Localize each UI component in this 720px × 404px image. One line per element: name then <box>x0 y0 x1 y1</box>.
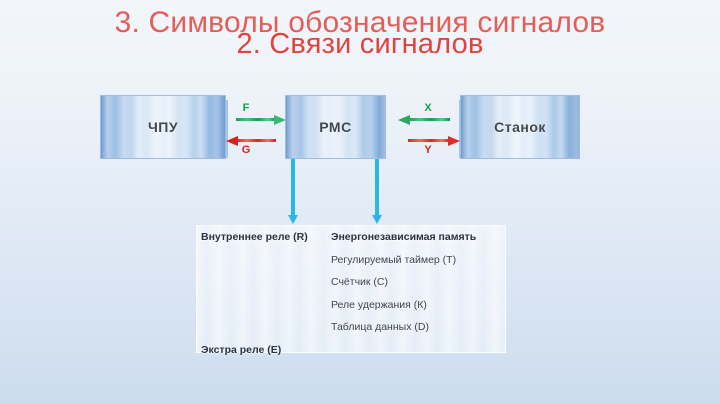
list-item <box>331 339 476 362</box>
signal-arrow-g-shaft <box>236 139 276 142</box>
connector-tick-left <box>226 100 228 158</box>
slide-title-current: 2. Связи сигналов <box>0 28 720 61</box>
signal-label-x: X <box>418 102 438 114</box>
arrow-head-right-icon <box>448 136 460 146</box>
arrow-head-left-icon <box>398 115 410 125</box>
diagram-box-pmc-label: РМС <box>319 119 351 135</box>
signal-arrow-x <box>398 115 460 123</box>
diagram-box-cnc: ЧПУ <box>100 95 226 159</box>
memory-list-right: Энергонезависимая память Регулируемый та… <box>331 226 476 361</box>
signal-arrow-y-shaft <box>408 139 450 142</box>
diagram-box-pmc: РМС <box>285 95 386 159</box>
signal-label-y: Y <box>418 144 438 156</box>
diagram-box-machine: Станок <box>460 95 580 159</box>
list-item: Реле удержания (К) <box>331 294 476 317</box>
arrow-down-right-icon <box>372 159 382 224</box>
signal-arrow-f <box>226 115 286 123</box>
list-item: Таблица данных (D) <box>331 316 476 339</box>
signal-label-f: F <box>236 102 256 114</box>
list-item <box>201 271 308 294</box>
signal-arrow-x-shaft <box>408 118 450 121</box>
diagram-box-cnc-label: ЧПУ <box>148 119 178 135</box>
list-item <box>201 249 308 272</box>
list-item: Счётчик (С) <box>331 271 476 294</box>
signal-label-g: G <box>236 144 256 156</box>
memory-panel: Внутреннее реле (R) Экстра реле (E) Энер… <box>196 225 506 353</box>
arrow-down-right-shaft <box>375 159 379 215</box>
slide-canvas: 3. Символы обозначения сигналов 2. Связи… <box>0 0 720 404</box>
arrow-down-right-head <box>372 215 382 224</box>
list-item: Энергонезависимая память <box>331 226 476 249</box>
list-item <box>201 294 308 317</box>
signal-arrow-f-shaft <box>236 118 276 121</box>
list-item: Внутреннее реле (R) <box>201 226 308 249</box>
list-item <box>201 316 308 339</box>
signal-arrow-y <box>398 136 460 144</box>
list-item: Регулируемый таймер (Т) <box>331 249 476 272</box>
diagram-box-machine-label: Станок <box>494 119 546 135</box>
arrow-down-left-head <box>288 215 298 224</box>
arrow-head-right-icon <box>274 115 286 125</box>
arrow-down-left-icon <box>288 159 298 224</box>
arrow-down-left-shaft <box>291 159 295 215</box>
memory-list-left: Внутреннее реле (R) Экстра реле (E) <box>201 226 308 361</box>
list-item: Экстра реле (E) <box>201 339 308 362</box>
signal-arrow-g <box>226 136 286 144</box>
